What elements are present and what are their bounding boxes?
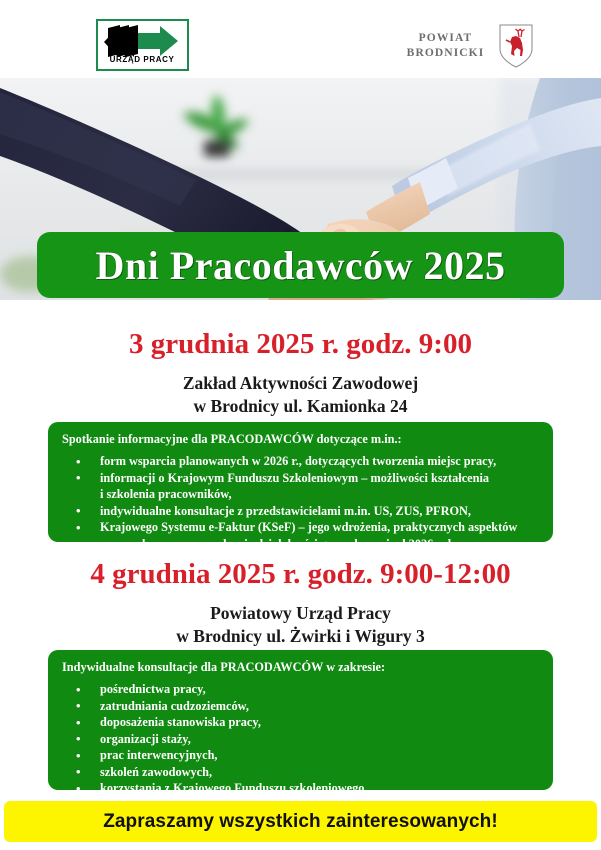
event-1-date-heading: 3 grudnia 2025 r. godz. 9:00 [0,328,601,361]
powiat-logo-line1: POWIAT [398,31,493,46]
svg-text:URZĄD PRACY: URZĄD PRACY [110,55,175,64]
list-item: pośrednictwa pracy, [62,682,541,698]
event-2-bullet-list: pośrednictwa pracy, zatrudniania cudzozi… [62,682,541,797]
powiat-logo-line2: BRODNICKI [398,46,493,61]
list-item: indywidualne konsultacje z przedstawicie… [62,504,541,520]
event-2-venue-line-1: Powiatowy Urząd Pracy [0,602,601,625]
event-1-info-box: Spotkanie informacyjne dla PRACODAWCÓW d… [48,422,553,542]
list-item: Krajowego Systemu e-Faktur (KSeF) – jego… [62,520,541,536]
list-item: doposażenia stanowiska pracy, [62,715,541,731]
event-2-info-intro: Indywidualne konsultacje dla PRACODAWCÓW… [62,659,541,675]
list-item-continuation: oraz wpływu na prowadzenie działalności … [62,537,541,553]
list-item: prac interwencyjnych, [62,748,541,764]
event-2-venue: Powiatowy Urząd Pracy w Brodnicy ul. Żwi… [0,602,601,648]
powiat-logo-text: POWIAT BRODNICKI [398,31,493,61]
list-item: informacji o Krajowym Funduszu Szkolenio… [62,471,541,487]
event-1-venue-line-1: Zakład Aktywności Zawodowej [0,372,601,395]
coat-of-arms-shield-icon [499,24,533,68]
event-2-info-box: Indywidualne konsultacje dla PRACODAWCÓW… [48,650,553,790]
urzad-pracy-arrow-icon: URZĄD PRACY [98,21,187,69]
event-1-venue-line-2: w Brodnicy ul. Kamionka 24 [0,395,601,418]
list-item: zatrudniania cudzoziemców, [62,699,541,715]
list-item: korzystania z Krajowego Funduszu szkolen… [62,781,541,797]
powiat-brodnicki-logo: POWIAT BRODNICKI [398,22,533,70]
poster-title: Dni Pracodawców 2025 [96,242,506,289]
event-1-bullet-list: form wsparcia planowanych w 2026 r., dot… [62,454,541,552]
event-1-venue: Zakład Aktywności Zawodowej w Brodnicy u… [0,372,601,418]
poster-title-banner: Dni Pracodawców 2025 [37,232,564,298]
list-item: organizacji staży, [62,732,541,748]
event-2-date-heading: 4 grudnia 2025 r. godz. 9:00-12:00 [0,558,601,591]
list-item-continuation: i szkolenia pracowników, [62,487,541,503]
footer-invitation-text: Zapraszamy wszystkich zainteresowanych! [103,811,498,833]
event-1-info-intro: Spotkanie informacyjne dla PRACODAWCÓW d… [62,431,541,447]
urzad-pracy-logo: URZĄD PRACY [96,19,189,71]
poster-header: URZĄD PRACY POWIAT BRODNICKI [0,0,601,78]
event-2-venue-line-2: w Brodnicy ul. Żwirki i Wigury 3 [0,625,601,648]
list-item: szkoleń zawodowych, [62,765,541,781]
footer-invitation-banner: Zapraszamy wszystkich zainteresowanych! [4,801,597,842]
list-item: form wsparcia planowanych w 2026 r., dot… [62,454,541,470]
